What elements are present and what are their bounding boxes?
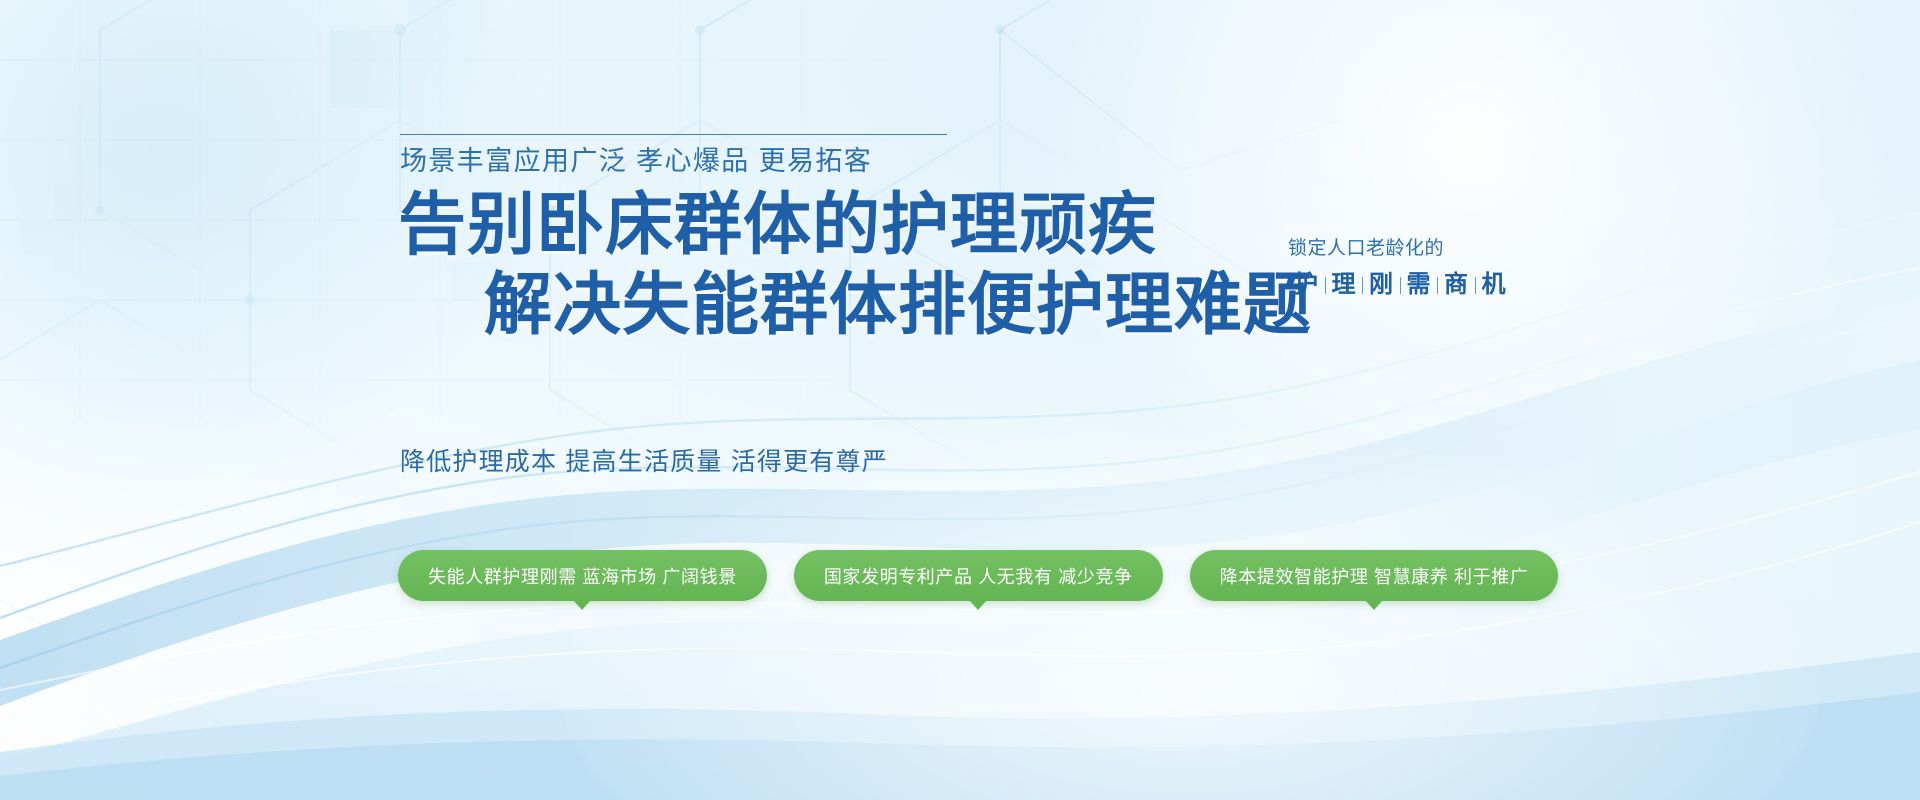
feature-pill-2-label: 国家发明专利产品 人无我有 减少竞争 <box>824 563 1133 589</box>
hero-banner: 场景丰富应用广泛 孝心爆品 更易拓客 告别卧床群体的护理顽疾 解决失能群体排便护… <box>0 0 1920 800</box>
sidenote-line-1: 锁定人口老龄化的 <box>1288 239 1548 258</box>
sidenote-char: 需 <box>1401 273 1438 297</box>
sidenote-char: 商 <box>1438 273 1475 297</box>
sidenote-line-2: 护 理 刚 需 商 机 <box>1288 273 1548 297</box>
feature-pill-1[interactable]: 失能人群护理刚需 蓝海市场 广阔钱景 <box>398 550 767 601</box>
headline-line-1: 告别卧床群体的护理顽疾 <box>398 185 1318 265</box>
page-title: 告别卧床群体的护理顽疾 解决失能群体排便护理难题 <box>398 185 1318 345</box>
sidenote-char: 理 <box>1326 273 1363 297</box>
sidenote-block: 锁定人口老龄化的 护 理 刚 需 商 机 <box>1288 239 1548 297</box>
sidenote-char: 机 <box>1476 273 1513 297</box>
eyebrow-text: 场景丰富应用广泛 孝心爆品 更易拓客 <box>400 148 872 175</box>
feature-pill-1-label: 失能人群护理刚需 蓝海市场 广阔钱景 <box>428 563 737 589</box>
eyebrow-wrap: 场景丰富应用广泛 孝心爆品 更易拓客 <box>400 148 872 175</box>
headline-line-2: 解决失能群体排便护理难题 <box>398 265 1318 345</box>
feature-pill-list: 失能人群护理刚需 蓝海市场 广阔钱景 国家发明专利产品 人无我有 减少竞争 降本… <box>398 550 1558 601</box>
tagline-text: 降低护理成本 提高生活质量 活得更有尊严 <box>400 450 888 475</box>
banner-content: 场景丰富应用广泛 孝心爆品 更易拓客 告别卧床群体的护理顽疾 解决失能群体排便护… <box>0 0 1920 800</box>
feature-pill-2[interactable]: 国家发明专利产品 人无我有 减少竞争 <box>794 550 1163 601</box>
feature-pill-3-label: 降本提效智能护理 智慧康养 利于推广 <box>1220 563 1529 589</box>
sidenote-char: 护 <box>1288 273 1325 297</box>
eyebrow-divider <box>400 134 947 135</box>
sidenote-char: 刚 <box>1363 273 1400 297</box>
feature-pill-3[interactable]: 降本提效智能护理 智慧康养 利于推广 <box>1190 550 1559 601</box>
